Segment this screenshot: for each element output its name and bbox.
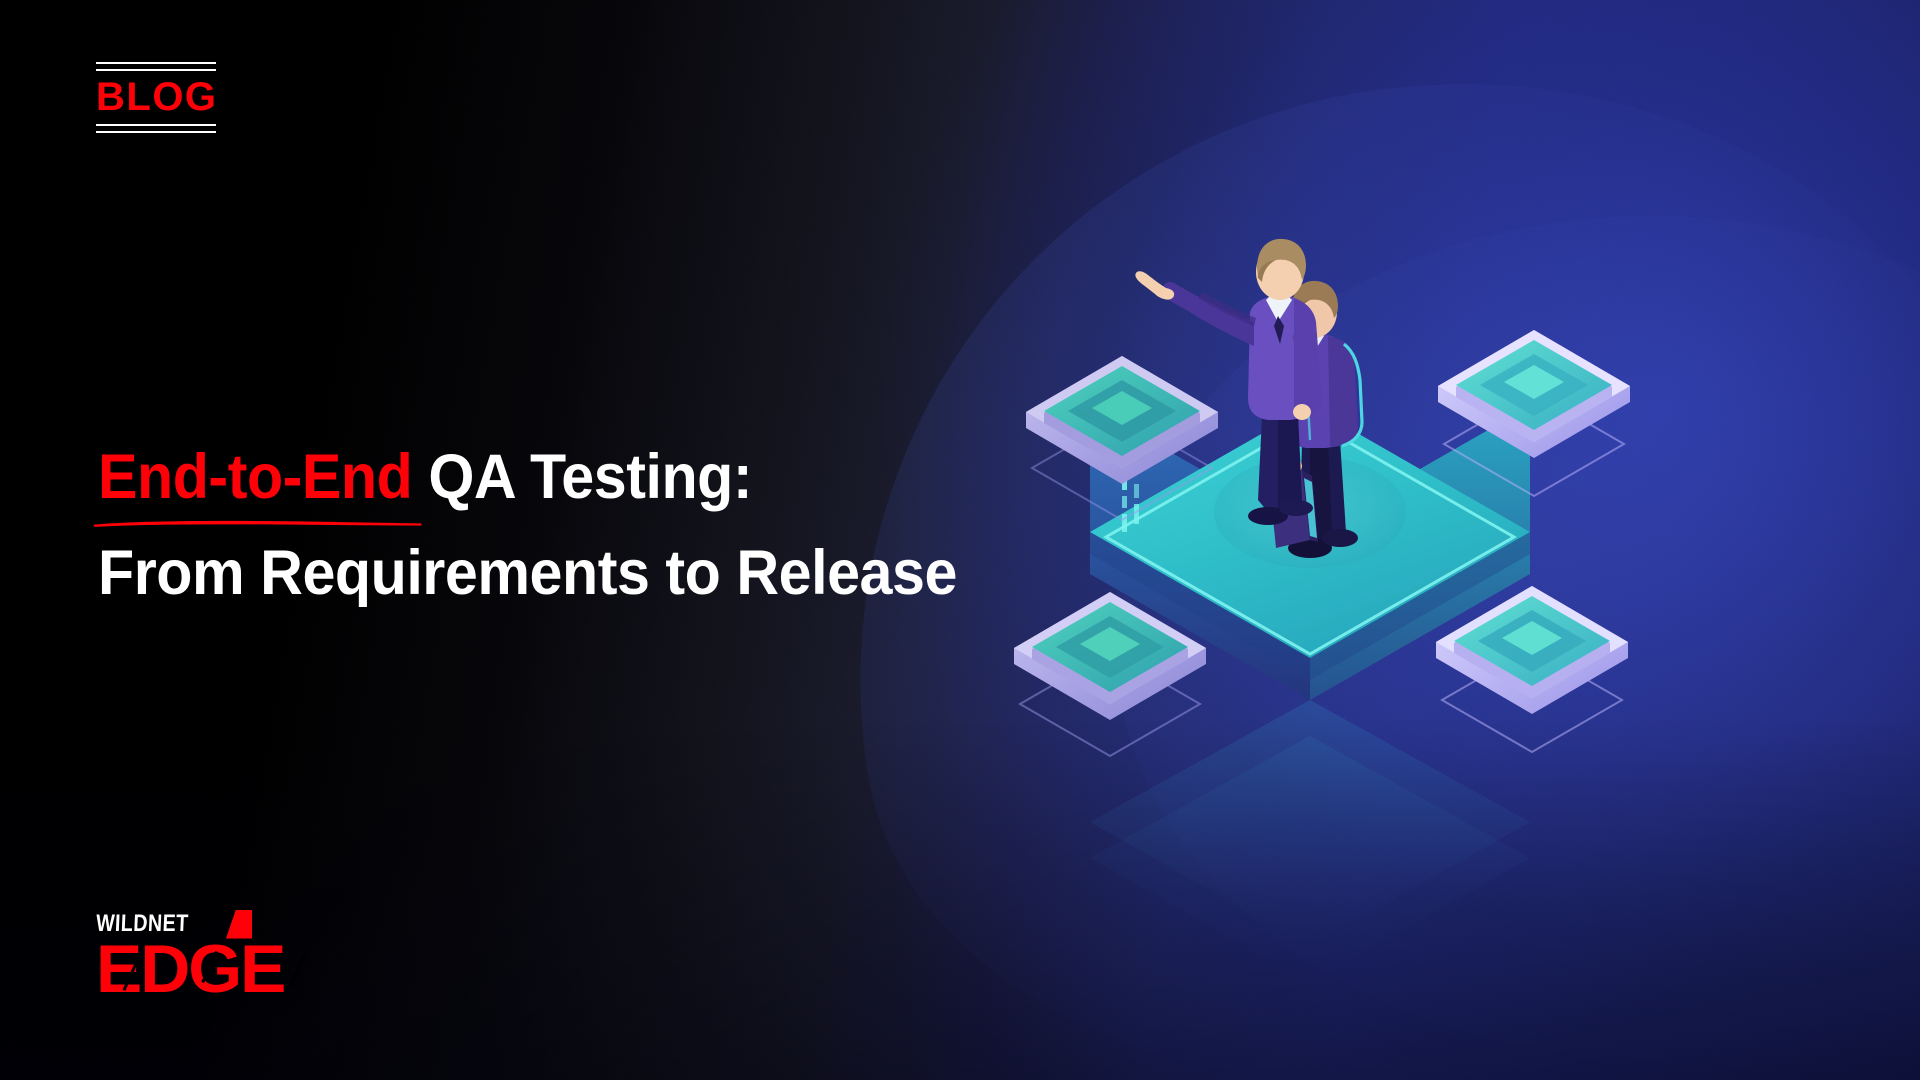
blog-tag-rule-top-outer <box>96 62 216 64</box>
page-title: End-to-End QA Testing: From Requirements… <box>98 430 1098 622</box>
headline-line-2: From Requirements to Release <box>98 526 1038 622</box>
blog-tag: BLOG <box>96 62 216 133</box>
blog-banner: BLOG End-to-End QA Testing: From Require… <box>0 0 1920 1080</box>
logo-edge-label: EDGE <box>96 931 284 1007</box>
hero-illustration <box>1010 140 1730 920</box>
headline-accent-phrase: End-to-End <box>98 430 412 526</box>
wildnet-edge-logo[interactable]: WILDNET EDGE <box>96 910 346 998</box>
headline-line-1: End-to-End QA Testing: <box>98 430 1038 526</box>
headline-line-1-rest: QA Testing: <box>412 442 752 512</box>
blog-tag-rule-bottom-outer <box>96 124 216 126</box>
isometric-scene-svg <box>1010 140 1730 920</box>
logo-edge-cut-3 <box>289 954 306 986</box>
blog-tag-label: BLOG <box>96 77 216 117</box>
logo-edge-text: EDGE <box>96 940 351 998</box>
blog-tag-rule-bottom-inner <box>96 131 216 133</box>
headline-accent-text: End-to-End <box>98 442 412 512</box>
blog-tag-rule-top-inner <box>96 69 216 71</box>
